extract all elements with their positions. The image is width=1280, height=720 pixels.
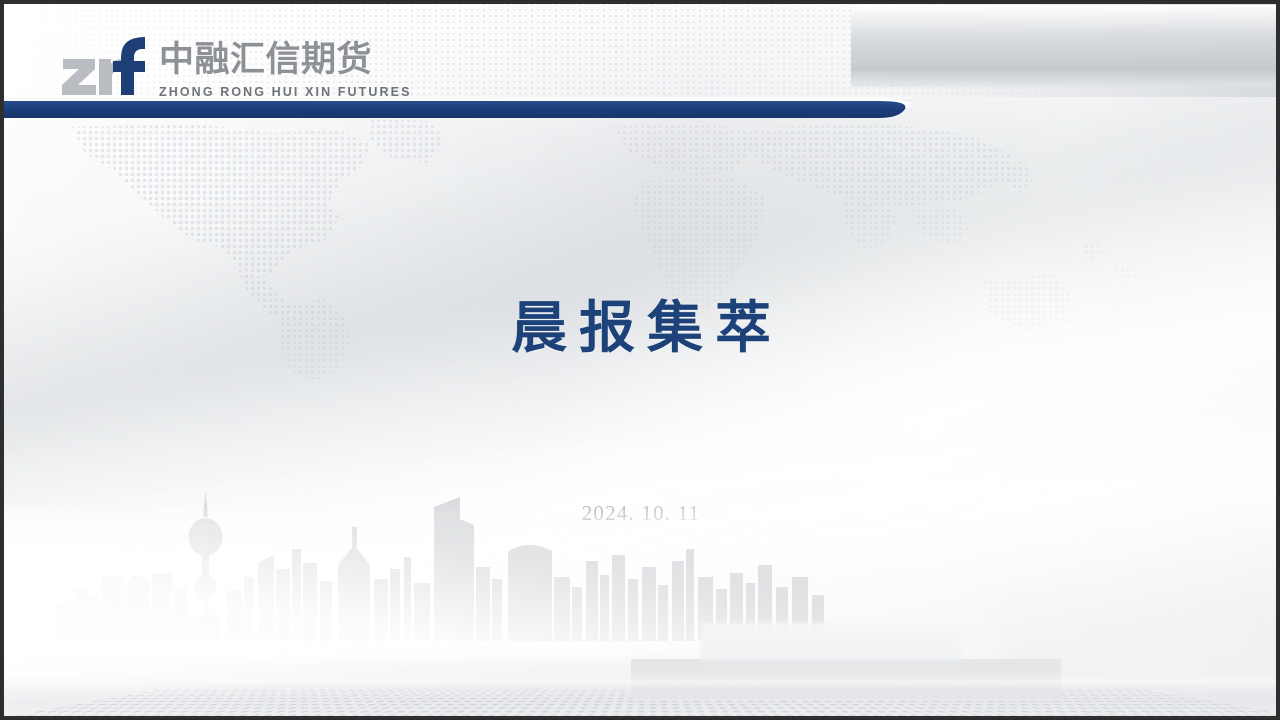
left-border bbox=[1, 1, 4, 720]
page-title: 晨报集萃 bbox=[1, 283, 1280, 364]
dot-grid-cutout-upper bbox=[701, 623, 961, 661]
bottom-border bbox=[1, 716, 1280, 719]
navy-accent-bar bbox=[1, 97, 941, 123]
company-logo: 中融汇信期货 ZHONG RONG HUI XIN FUTURES bbox=[61, 37, 412, 100]
right-border bbox=[1276, 1, 1279, 720]
logo-wordmark: 中融汇信期货 ZHONG RONG HUI XIN FUTURES bbox=[159, 39, 412, 101]
header-right-gradient bbox=[851, 5, 1280, 87]
company-name-en: ZHONG RONG HUI XIN FUTURES bbox=[159, 86, 412, 99]
zrf-monogram-icon bbox=[61, 37, 147, 100]
bottom-shade bbox=[1, 675, 1280, 719]
presentation-title-slide: 中融汇信期货 ZHONG RONG HUI XIN FUTURES 晨报集萃 2… bbox=[0, 0, 1280, 720]
svg-text:中融汇信期货: 中融汇信期货 bbox=[159, 40, 372, 79]
company-name-cn: 中融汇信期货 bbox=[159, 39, 412, 83]
top-border bbox=[1, 1, 1280, 4]
